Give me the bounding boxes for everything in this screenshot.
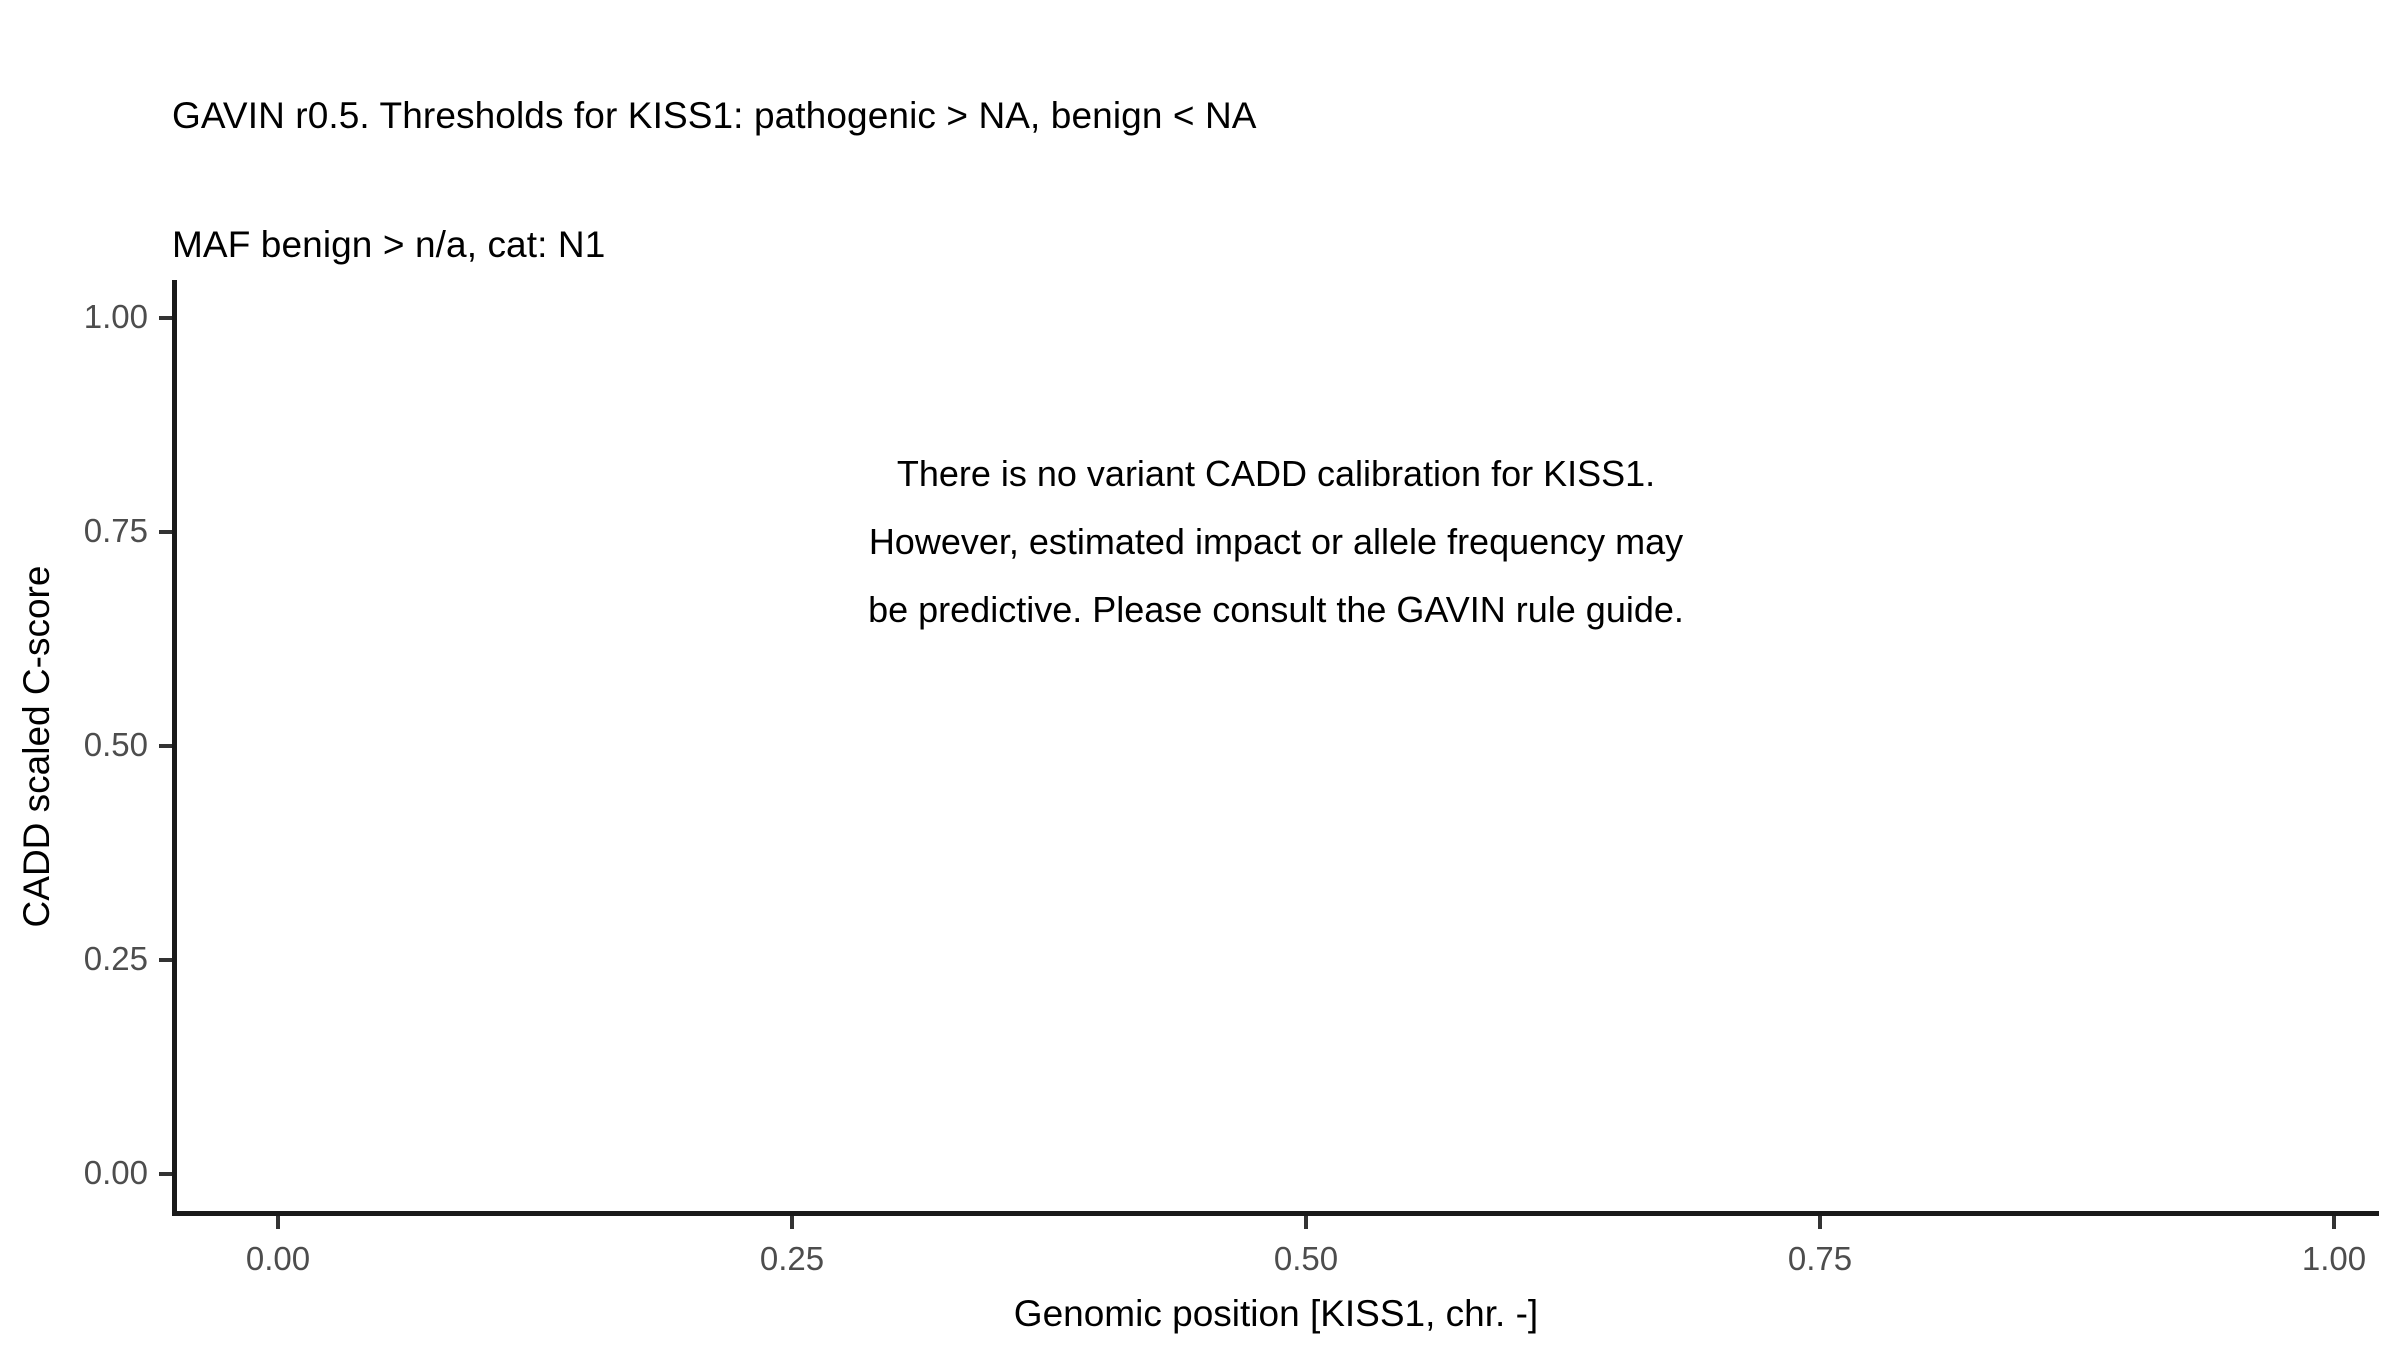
chart-canvas: GAVIN r0.5. Thresholds for KISS1: pathog… (0, 0, 2400, 1350)
y-axis-title: CADD scaled C-score (16, 280, 68, 1213)
x-axis-tick-label-0.25: 0.25 (692, 1240, 892, 1278)
y-axis-tick-mark-0.50 (159, 744, 172, 748)
x-axis-tick-label-1.00: 1.00 (2234, 1240, 2400, 1278)
chart-title-line-1: GAVIN r0.5. Thresholds for KISS1: pathog… (172, 94, 2272, 137)
x-axis-tick-label-0.50: 0.50 (1206, 1240, 1406, 1278)
x-axis-tick-mark-1.00 (2332, 1216, 2336, 1229)
plot-panel (174, 280, 2378, 1213)
x-axis-tick-mark-0.25 (790, 1216, 794, 1229)
y-axis-line (172, 280, 177, 1216)
chart-title-line-2: MAF benign > n/a, cat: N1 (172, 223, 2272, 266)
y-axis-tick-mark-1.00 (159, 316, 172, 320)
x-axis-tick-mark-0.50 (1304, 1216, 1308, 1229)
x-axis-line (172, 1211, 2379, 1216)
y-axis-tick-mark-0.75 (159, 530, 172, 534)
y-axis-tick-mark-0.00 (159, 1172, 172, 1176)
x-axis-tick-mark-0.00 (276, 1216, 280, 1229)
x-axis-tick-label-0.00: 0.00 (178, 1240, 378, 1278)
empty-state-line-1: There is no variant CADD calibration for… (174, 440, 2378, 508)
y-axis-tick-mark-0.25 (159, 958, 172, 962)
empty-state-line-2: However, estimated impact or allele freq… (174, 508, 2378, 576)
x-axis-tick-mark-0.75 (1818, 1216, 1822, 1229)
x-axis-tick-label-0.75: 0.75 (1720, 1240, 1920, 1278)
x-axis-title: Genomic position [KISS1, chr. -] (174, 1293, 2378, 1335)
empty-state-line-3: be predictive. Please consult the GAVIN … (174, 576, 2378, 644)
empty-state-message: There is no variant CADD calibration for… (174, 440, 2378, 644)
